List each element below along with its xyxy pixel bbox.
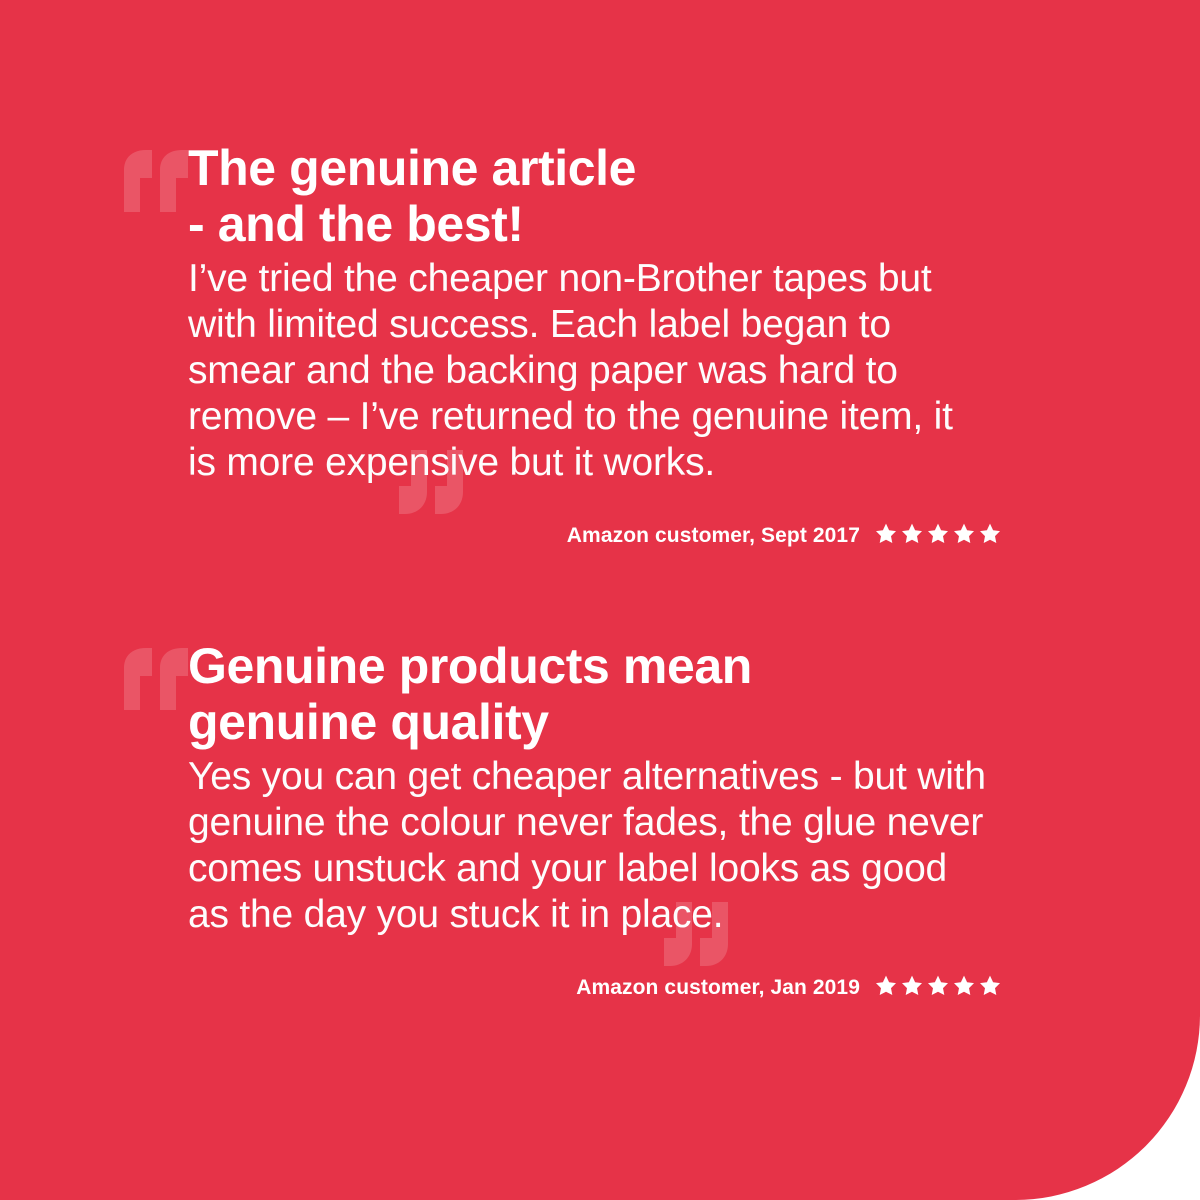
star-icon [874,974,898,1002]
quote-text: I’ve tried the cheaper non-Brother tapes… [188,252,990,486]
quote-heading: The genuine article - and the best! [188,140,990,252]
attribution-name: Amazon customer, Sept 2017 [567,524,860,548]
attribution-name: Amazon customer, Jan 2019 [576,976,860,1000]
quote-body-1: The genuine article - and the best! I’ve… [0,140,1200,486]
quote-text: Yes you can get cheaper alternatives - b… [188,750,990,938]
quote-body-2: Genuine products mean genuine quality Ye… [0,638,1200,938]
star-icon [926,522,950,550]
star-icon [900,974,924,1002]
star-rating [874,522,1002,550]
star-icon [926,974,950,1002]
quote-heading: Genuine products mean genuine quality [188,638,990,750]
star-icon [952,974,976,1002]
star-icon [874,522,898,550]
testimonial-card: The genuine article - and the best! I’ve… [0,0,1200,1200]
attribution-2: Amazon customer, Jan 2019 [0,974,1200,1002]
star-icon [978,522,1002,550]
attribution-1: Amazon customer, Sept 2017 [0,522,1200,550]
star-icon [952,522,976,550]
testimonial-block-2: Genuine products mean genuine quality Ye… [0,638,1200,938]
star-rating [874,974,1002,1002]
testimonial-block-1: The genuine article - and the best! I’ve… [0,140,1200,486]
star-icon [978,974,1002,1002]
star-icon [900,522,924,550]
